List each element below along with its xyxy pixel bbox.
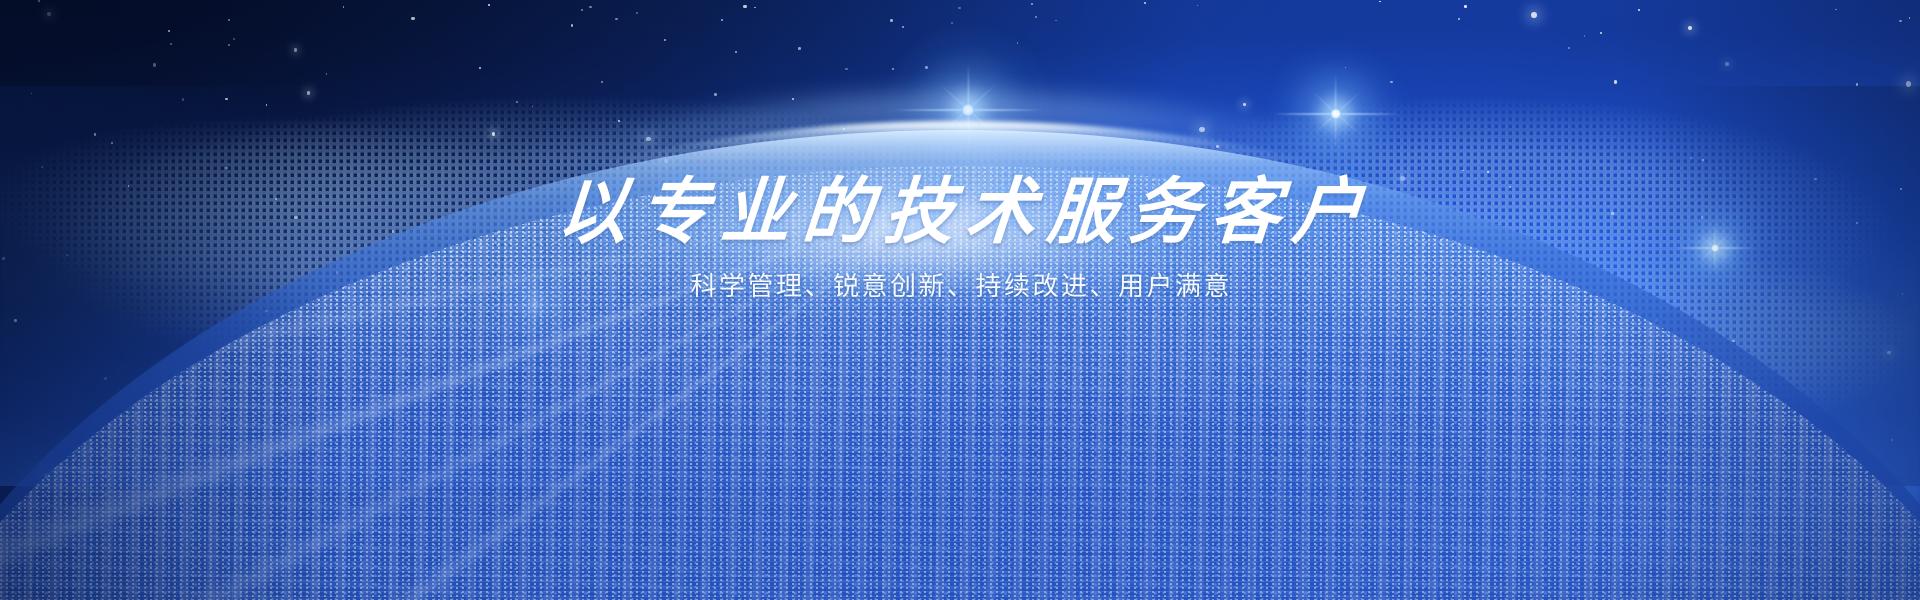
star [1659, 329, 1660, 330]
star [1244, 444, 1247, 447]
star [433, 467, 435, 469]
star [137, 416, 139, 418]
star [1170, 458, 1173, 461]
star [255, 378, 257, 380]
star [816, 376, 817, 377]
star [14, 319, 17, 322]
star [1531, 372, 1532, 373]
star [606, 342, 609, 345]
star [330, 441, 333, 444]
star [1887, 351, 1891, 355]
star [1616, 454, 1620, 458]
star [880, 345, 884, 349]
star [1175, 419, 1176, 420]
star [624, 447, 626, 449]
banner-copy: 以专业的技术服务客户 科学管理、锐意创新、持续改进、用户满意 [0, 0, 1920, 303]
hero-banner: 以专业的技术服务客户 科学管理、锐意创新、持续改进、用户满意 [0, 0, 1920, 600]
star [712, 418, 714, 420]
star [1617, 388, 1619, 390]
star [44, 473, 50, 479]
star [1891, 439, 1893, 441]
star [406, 365, 408, 367]
star [1009, 379, 1011, 381]
star [264, 464, 268, 468]
star [1580, 325, 1582, 327]
star [830, 368, 832, 370]
star [347, 397, 349, 399]
star [1060, 379, 1065, 384]
star [795, 478, 798, 481]
sparkle-ray [487, 304, 583, 306]
star [1271, 394, 1274, 397]
star [1655, 319, 1657, 321]
star [616, 415, 618, 417]
star [1251, 361, 1255, 365]
star [340, 358, 342, 360]
banner-subline: 科学管理、锐意创新、持续改进、用户满意 [688, 271, 1232, 302]
star [1019, 478, 1021, 480]
star [1732, 340, 1734, 342]
star [1330, 387, 1332, 389]
star [808, 469, 811, 472]
star [371, 348, 373, 350]
star [1323, 321, 1325, 323]
star [402, 362, 407, 367]
star [545, 326, 547, 328]
star [1196, 425, 1197, 426]
star [1029, 371, 1032, 374]
star [1236, 379, 1238, 381]
star [1621, 345, 1623, 347]
star [1141, 357, 1144, 360]
star [1735, 414, 1737, 416]
star [1722, 404, 1724, 406]
star [344, 366, 346, 368]
star [1268, 372, 1273, 377]
banner-headline: 以专业的技术服务客户 [543, 176, 1378, 250]
star [265, 310, 268, 313]
star [1534, 424, 1536, 426]
star [104, 377, 107, 380]
star [860, 459, 862, 461]
